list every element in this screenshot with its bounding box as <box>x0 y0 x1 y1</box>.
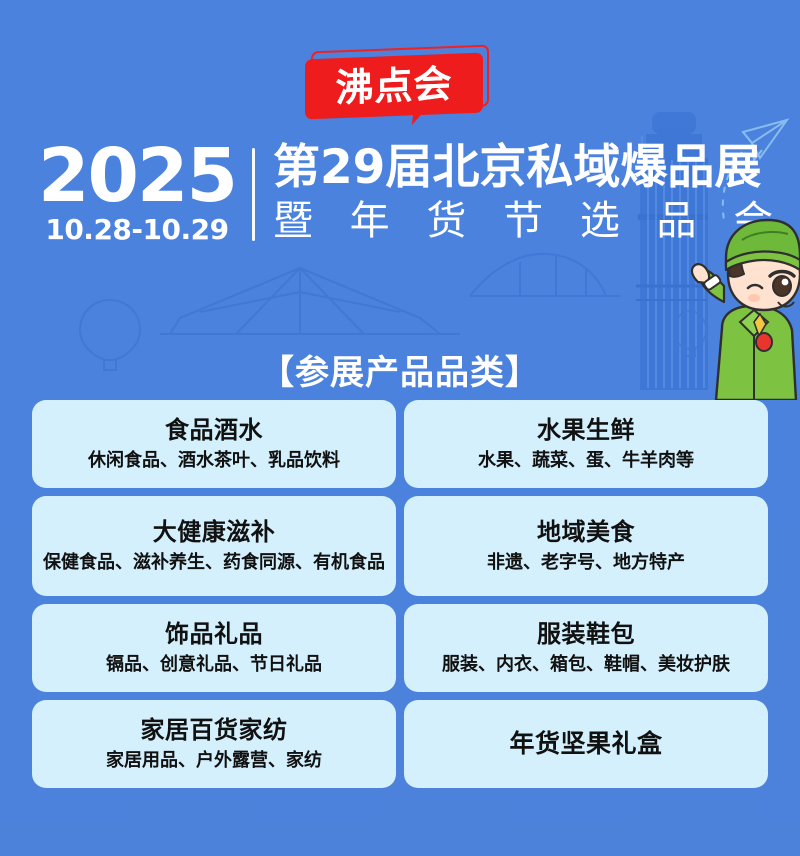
skyline-line-art-icon <box>470 254 620 296</box>
category-description: 服装、内衣、箱包、鞋帽、美妆护肤 <box>442 653 730 676</box>
event-year-block: 2025 10.28-10.29 <box>38 142 252 247</box>
event-title-block: 第29届北京私域爆品展 暨 年 货 节 选 品 会 <box>273 142 785 247</box>
category-title: 年货坚果礼盒 <box>509 729 662 759</box>
category-card[interactable]: 饰品礼品 镉品、创意礼品、节日礼品 <box>32 604 396 692</box>
category-title: 地域美食 <box>537 518 635 547</box>
logo-fill-shape: 沸点会 <box>305 53 483 120</box>
category-card[interactable]: 食品酒水 休闲食品、酒水茶叶、乳品饮料 <box>32 400 396 488</box>
category-title: 饰品礼品 <box>165 620 263 649</box>
category-description: 家居用品、户外露营、家纺 <box>106 749 322 772</box>
category-card[interactable]: 水果生鲜 水果、蔬菜、蛋、牛羊肉等 <box>404 400 768 488</box>
category-title: 大健康滋补 <box>153 518 276 547</box>
category-title: 家居百货家纺 <box>141 716 288 745</box>
brand-logo-badge[interactable]: 沸点会 <box>305 48 495 120</box>
category-title: 食品酒水 <box>165 416 263 445</box>
category-grid: 食品酒水 休闲食品、酒水茶叶、乳品饮料 水果生鲜 水果、蔬菜、蛋、牛羊肉等 大健… <box>32 400 768 788</box>
event-title-main: 第29届北京私域爆品展 <box>273 143 785 194</box>
category-card[interactable]: 地域美食 非遗、老字号、地方特产 <box>404 496 768 596</box>
category-card[interactable]: 大健康滋补 保健食品、滋补养生、药食同源、有机食品 <box>32 496 396 596</box>
category-description: 非遗、老字号、地方特产 <box>487 551 685 574</box>
section-heading: 【参展产品品类】 <box>0 345 800 394</box>
event-year: 2025 <box>38 142 236 210</box>
logo-container: 沸点会 <box>0 48 800 120</box>
poster-canvas: 沸点会 2025 10.28-10.29 第29届北京私域爆品展 暨 年 货 节… <box>0 0 800 856</box>
category-card[interactable]: 年货坚果礼盒 <box>404 700 768 788</box>
category-card[interactable]: 服装鞋包 服装、内衣、箱包、鞋帽、美妆护肤 <box>404 604 768 692</box>
headline-divider <box>252 148 255 241</box>
category-card[interactable]: 家居百货家纺 家居用品、户外露营、家纺 <box>32 700 396 788</box>
logo-text: 沸点会 <box>335 65 452 107</box>
headline-block: 2025 10.28-10.29 第29届北京私域爆品展 暨 年 货 节 选 品… <box>38 142 785 247</box>
event-title-sub: 暨 年 货 节 选 品 会 <box>273 196 785 246</box>
category-description: 镉品、创意礼品、节日礼品 <box>106 653 322 676</box>
category-description: 休闲食品、酒水茶叶、乳品饮料 <box>88 449 340 472</box>
category-description: 保健食品、滋补养生、药食同源、有机食品 <box>43 551 385 574</box>
bridge-line-art-icon <box>160 268 460 334</box>
category-title: 水果生鲜 <box>537 416 635 445</box>
event-dates: 10.28-10.29 <box>45 212 228 247</box>
category-description: 水果、蔬菜、蛋、牛羊肉等 <box>478 449 694 472</box>
category-title: 服装鞋包 <box>537 620 635 649</box>
